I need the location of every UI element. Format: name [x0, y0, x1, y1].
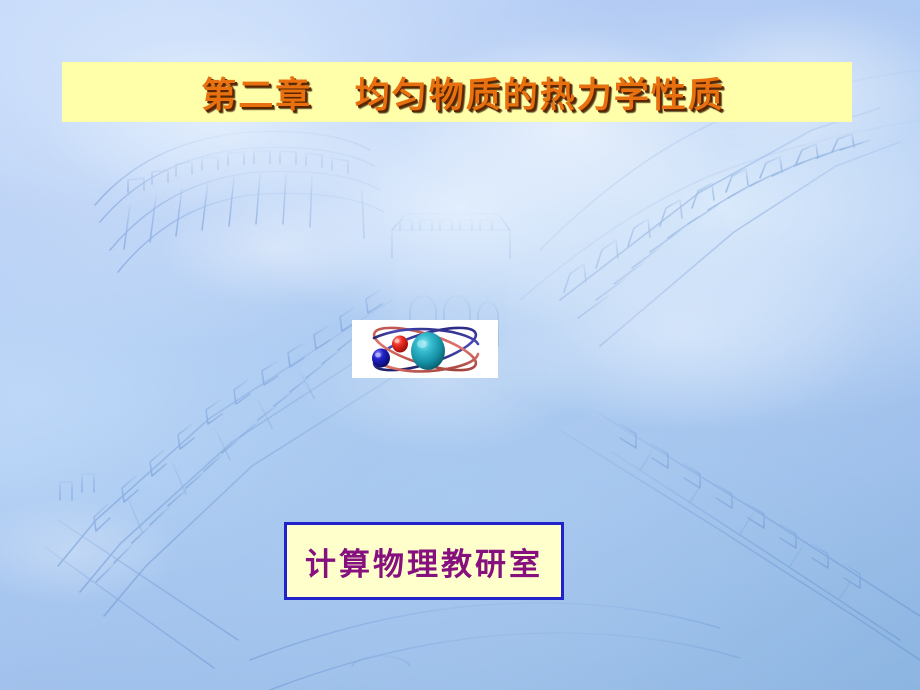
- department-label: 计算物理教研室: [305, 539, 543, 584]
- department-box: 计算物理教研室: [284, 522, 564, 600]
- slide-title: 第二章 均匀物质的热力学性质: [201, 67, 725, 118]
- slide-canvas: 第二章 均匀物质的热力学性质: [0, 0, 920, 690]
- title-banner: 第二章 均匀物质的热力学性质: [62, 62, 852, 122]
- atom-illustration: [352, 320, 498, 378]
